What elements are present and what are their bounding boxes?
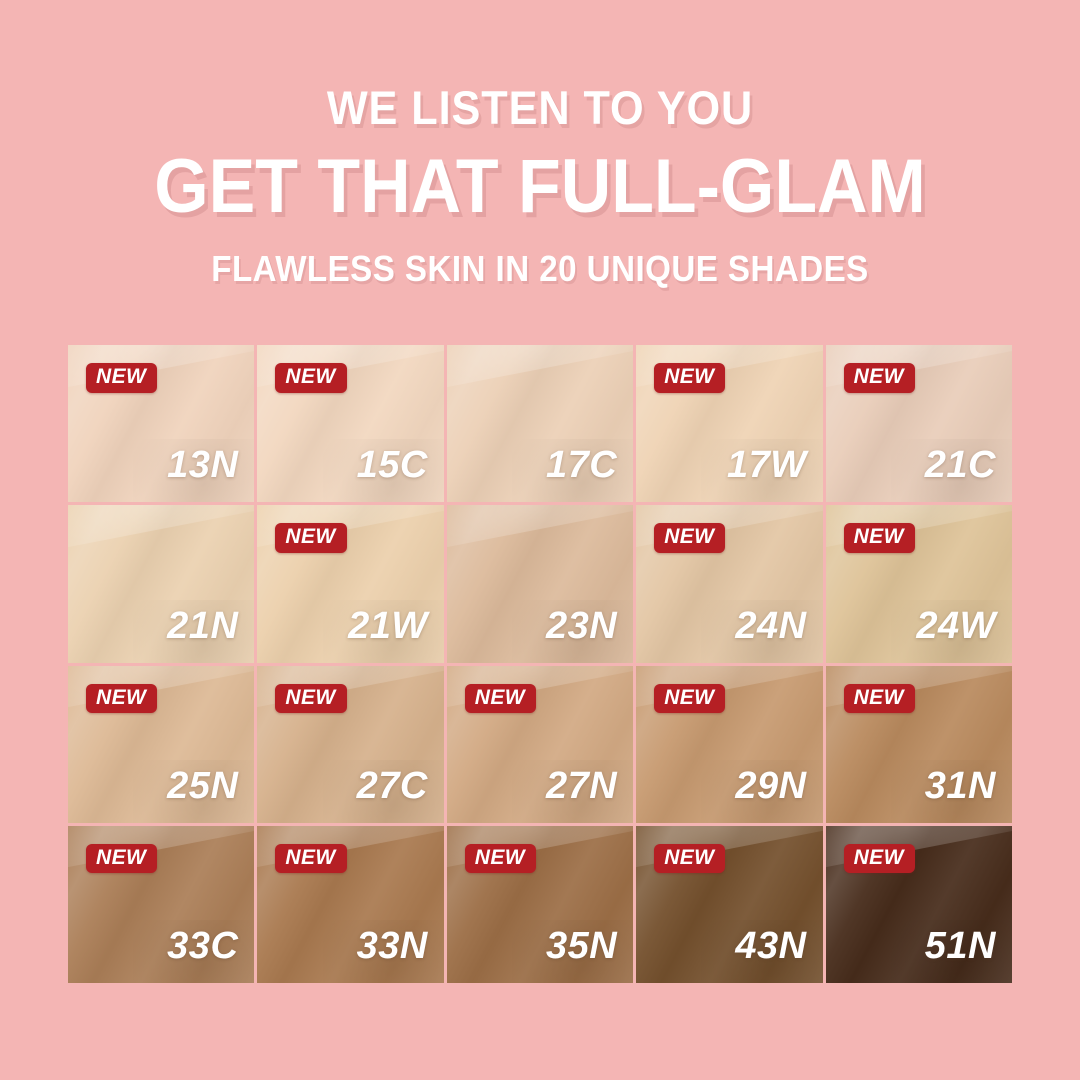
new-badge: NEW: [654, 363, 725, 393]
new-badge: NEW: [86, 684, 157, 714]
shade-swatch[interactable]: NEW35N: [447, 826, 633, 983]
shade-code-label: 27N: [546, 767, 617, 805]
shade-code-label: 17W: [727, 446, 807, 484]
shade-swatch[interactable]: NEW21W: [257, 505, 443, 662]
shade-code-label: 33N: [357, 927, 428, 965]
new-badge: NEW: [465, 844, 536, 874]
shade-swatch[interactable]: NEW15C: [257, 345, 443, 502]
swatch-highlight: [447, 345, 633, 393]
header-subtitle: FLAWLESS SKIN IN 20 UNIQUE SHADES: [43, 251, 1037, 287]
shade-swatch[interactable]: NEW33N: [257, 826, 443, 983]
shade-code-label: 24W: [916, 607, 996, 645]
header-kicker: WE LISTEN TO YOU: [43, 84, 1037, 131]
shade-code-label: 21W: [348, 607, 428, 645]
shade-code-label: 27C: [357, 767, 428, 805]
new-badge: NEW: [844, 844, 915, 874]
shade-swatch[interactable]: NEW33C: [68, 826, 254, 983]
shade-swatch[interactable]: NEW24N: [636, 505, 822, 662]
new-badge: NEW: [844, 523, 915, 553]
new-badge: NEW: [844, 684, 915, 714]
shade-code-label: 29N: [735, 767, 806, 805]
shade-swatch[interactable]: 21N: [68, 505, 254, 662]
new-badge: NEW: [86, 844, 157, 874]
shade-swatch[interactable]: NEW17W: [636, 345, 822, 502]
shade-code-label: 21C: [925, 446, 996, 484]
shade-swatch[interactable]: 17C: [447, 345, 633, 502]
shade-code-label: 13N: [167, 446, 238, 484]
shade-swatch-grid: NEW13NNEW15C17CNEW17WNEW21C21NNEW21W23NN…: [68, 345, 1012, 983]
shade-code-label: 35N: [546, 927, 617, 965]
shade-swatch[interactable]: NEW51N: [826, 826, 1012, 983]
shade-code-label: 21N: [167, 607, 238, 645]
new-badge: NEW: [654, 844, 725, 874]
shade-code-label: 33C: [167, 927, 238, 965]
new-badge: NEW: [465, 684, 536, 714]
shade-swatch[interactable]: NEW25N: [68, 666, 254, 823]
header-headline: GET THAT FULL-GLAM: [43, 149, 1037, 225]
shade-code-label: 15C: [357, 446, 428, 484]
new-badge: NEW: [86, 363, 157, 393]
shade-code-label: 43N: [735, 927, 806, 965]
shade-swatch[interactable]: NEW31N: [826, 666, 1012, 823]
shade-swatch[interactable]: NEW27C: [257, 666, 443, 823]
shade-code-label: 31N: [925, 767, 996, 805]
shade-swatch[interactable]: NEW29N: [636, 666, 822, 823]
shade-code-label: 24N: [735, 607, 806, 645]
new-badge: NEW: [275, 844, 346, 874]
new-badge: NEW: [275, 684, 346, 714]
shade-swatch[interactable]: NEW13N: [68, 345, 254, 502]
shade-code-label: 23N: [546, 607, 617, 645]
new-badge: NEW: [275, 363, 346, 393]
new-badge: NEW: [654, 523, 725, 553]
swatch-highlight: [68, 505, 254, 553]
shade-swatch[interactable]: NEW43N: [636, 826, 822, 983]
swatch-highlight: [447, 505, 633, 553]
new-badge: NEW: [844, 363, 915, 393]
promo-header: WE LISTEN TO YOU GET THAT FULL-GLAM FLAW…: [0, 0, 1080, 287]
new-badge: NEW: [654, 684, 725, 714]
shade-code-label: 51N: [925, 927, 996, 965]
shade-code-label: 17C: [546, 446, 617, 484]
shade-swatch[interactable]: NEW24W: [826, 505, 1012, 662]
new-badge: NEW: [275, 523, 346, 553]
shade-swatch[interactable]: NEW21C: [826, 345, 1012, 502]
shade-code-label: 25N: [167, 767, 238, 805]
shade-swatch[interactable]: 23N: [447, 505, 633, 662]
shade-swatch[interactable]: NEW27N: [447, 666, 633, 823]
